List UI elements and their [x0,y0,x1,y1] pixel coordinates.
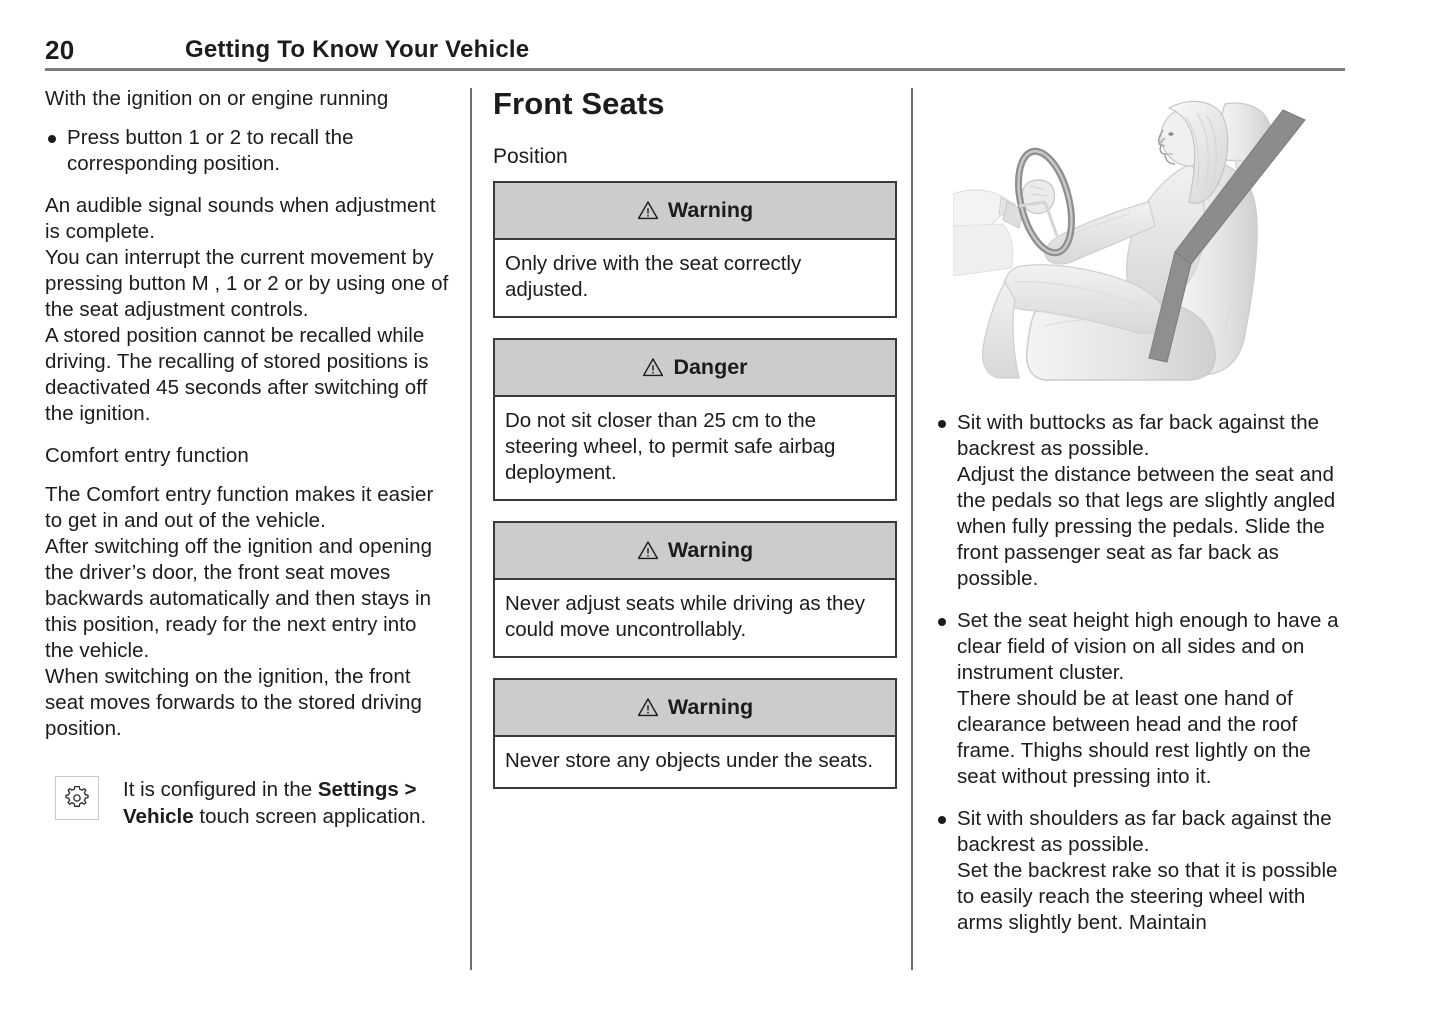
column-divider-right [911,88,913,970]
comfort-entry-heading: Comfort entry function [45,443,449,468]
bullet-line-1: Sit with buttocks as far back against th… [957,410,1347,462]
paragraph-comfort-3: When switching on the ignition, the fron… [45,664,449,742]
page-number: 20 [45,34,75,66]
notice-box: Warning Only drive with the seat correct… [493,181,897,318]
list-item: Sit with buttocks as far back against th… [935,410,1347,592]
notice-label: Warning [668,197,753,223]
notice-label: Danger [673,354,747,380]
paragraph-stored-position: A stored position cannot be recalled whi… [45,323,449,427]
warning-triangle-icon [637,200,659,220]
notice-body: Never adjust seats while driving as they… [495,580,895,656]
bullet-line-2: Adjust the distance between the seat and… [957,462,1347,592]
gear-icon-box [55,776,99,820]
warning-triangle-icon [637,540,659,560]
notice-label: Warning [668,537,753,563]
note-bold-vehicle: Vehicle [123,805,194,828]
warning-triangle-icon [642,357,664,377]
bullet-line-2: Set the backrest rake so that it is poss… [957,858,1347,936]
notice-body: Do not sit closer than 25 cm to the stee… [495,397,895,499]
notice-label: Warning [668,694,753,720]
right-column: Sit with buttocks as far back against th… [935,86,1347,952]
notice-body: Never store any objects under the seats. [495,737,895,787]
page-header: 20 Getting To Know Your Vehicle [45,34,1345,70]
note-text-1: It is configured in the [123,778,318,801]
paragraph-comfort-1: The Comfort entry function makes it easi… [45,482,449,534]
settings-note-text: It is configured in the Settings > Vehic… [123,776,449,830]
page-title: Front Seats [493,86,897,122]
note-text-3: touch screen application. [194,805,426,828]
position-heading: Position [493,144,897,169]
bullet-line-1: Sit with shoulders as far back against t… [957,806,1347,858]
notice-box: Warning Never store any objects under th… [493,678,897,789]
paragraph-audible-signal: An audible signal sounds when adjustment… [45,193,449,245]
notice-header: Danger [495,340,895,397]
list-item: Press button 1 or 2 to recall the corres… [45,125,449,177]
notice-box: Warning Never adjust seats while driving… [493,521,897,658]
chapter-title: Getting To Know Your Vehicle [185,34,529,66]
notice-header: Warning [495,523,895,580]
gear-icon [62,783,92,813]
bullet-line-1: Set the seat height high enough to have … [957,608,1347,686]
paragraph-interrupt-movement: You can interrupt the current movement b… [45,245,449,323]
notice-header: Warning [495,680,895,737]
settings-note: It is configured in the Settings > Vehic… [45,776,449,830]
paragraph-comfort-2: After switching off the ignition and ope… [45,534,449,664]
middle-column: Front Seats Position Warning Only drive … [493,86,897,809]
warning-triangle-icon [637,697,659,717]
bullet-line-2: There should be at least one hand of cle… [957,686,1347,790]
bullet-text: Press button 1 or 2 to recall the corres… [67,126,354,175]
notice-header: Warning [495,183,895,240]
left-column: With the ignition on or engine running P… [45,86,449,830]
driver-seating-position-illustration [953,86,1333,382]
list-item: Sit with shoulders as far back against t… [935,806,1347,936]
notice-body: Only drive with the seat correctly adjus… [495,240,895,316]
column-divider-left [470,88,472,970]
note-bold-settings: Settings > [318,778,417,801]
notice-box: Danger Do not sit closer than 25 cm to t… [493,338,897,501]
header-rule [45,68,1345,71]
list-item: Set the seat height high enough to have … [935,608,1347,790]
ignition-subheading: With the ignition on or engine running [45,86,449,111]
